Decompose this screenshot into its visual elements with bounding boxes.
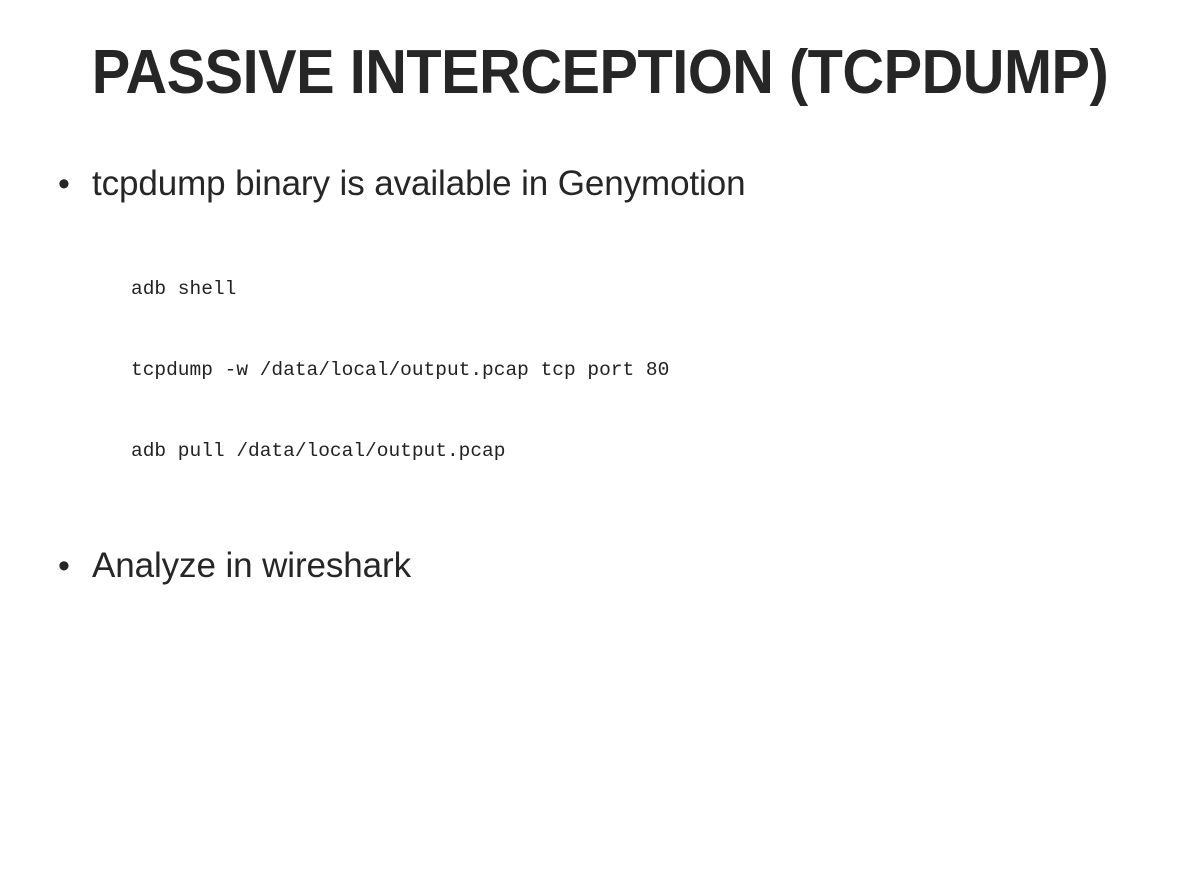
code-line-tcpdump-capture: tcpdump -w /data/local/output.pcap tcp p…	[131, 357, 1200, 384]
page-title: PASSIVE INTERCEPTION (TCPDUMP)	[42, 40, 1158, 105]
code-line-adb-pull: adb pull /data/local/output.pcap	[131, 438, 1200, 465]
code-line-adb-shell: adb shell	[131, 276, 1200, 303]
slide-body: • tcpdump binary is available in Genymot…	[0, 160, 1200, 590]
bullet-dot-icon: •	[58, 160, 92, 208]
bullet-label-analyze-wireshark: Analyze in wireshark	[92, 542, 411, 590]
bullet-dot-icon: •	[58, 542, 92, 590]
list-item: • Analyze in wireshark	[0, 542, 1200, 590]
bullet-label-tcpdump-binary: tcpdump binary is available in Genymotio…	[92, 160, 745, 208]
list-item: • tcpdump binary is available in Genymot…	[0, 160, 1200, 208]
slide: PASSIVE INTERCEPTION (TCPDUMP) • tcpdump…	[0, 0, 1200, 891]
code-block: adb shell tcpdump -w /data/local/output.…	[0, 222, 1200, 519]
